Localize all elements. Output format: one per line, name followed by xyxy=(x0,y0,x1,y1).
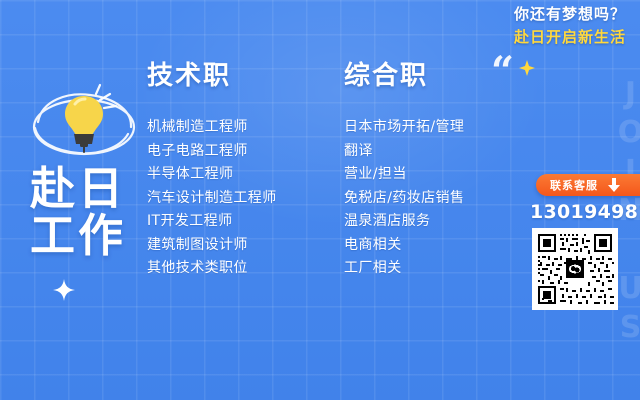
list-item: 建筑制图设计师 xyxy=(147,234,277,258)
star-yellow-icon xyxy=(519,60,535,76)
list-item: 汽车设计制造工程师 xyxy=(147,187,277,211)
lightbulb-icon xyxy=(28,82,140,164)
brand-title: 赴日 工作 xyxy=(30,166,126,260)
list-item: 机械制造工程师 xyxy=(147,116,277,140)
column-general-list: 日本市场开拓/管理 翻译 营业/担当 免税店/药妆店销售 温泉酒店服务 电商相关… xyxy=(344,116,464,281)
column-technical-title: 技术职 xyxy=(147,62,277,90)
list-item: 半导体工程师 xyxy=(147,163,277,187)
star-white-icon xyxy=(53,279,75,301)
brand-title-line1: 赴日 xyxy=(30,166,126,211)
poster-canvas: JOIN US 你还有梦想吗？ 赴日开启新生活 “ xyxy=(0,0,640,400)
column-technical: 技术职 机械制造工程师 电子电路工程师 半导体工程师 汽车设计制造工程师 IT开… xyxy=(147,62,277,281)
contact-support-label: 联系客服 xyxy=(550,177,598,193)
column-general: 综合职 日本市场开拓/管理 翻译 营业/担当 免税店/药妆店销售 温泉酒店服务 … xyxy=(344,62,464,281)
list-item: 免税店/药妆店销售 xyxy=(344,187,464,211)
headline-line2: 赴日开启新生活 xyxy=(514,27,626,47)
list-item: 营业/担当 xyxy=(344,163,464,187)
list-item: 电子电路工程师 xyxy=(147,140,277,164)
headline: 你还有梦想吗？ 赴日开启新生活 xyxy=(514,4,626,47)
column-technical-list: 机械制造工程师 电子电路工程师 半导体工程师 汽车设计制造工程师 IT开发工程师… xyxy=(147,116,277,281)
list-item: 温泉酒店服务 xyxy=(344,210,464,234)
phone-number[interactable]: 13019498186 xyxy=(530,201,640,223)
arrow-down-icon xyxy=(608,178,620,192)
contact-support-button[interactable]: 联系客服 xyxy=(536,174,640,196)
quote-mark-icon: “ xyxy=(491,52,514,92)
list-item: 电商相关 xyxy=(344,234,464,258)
list-item: 翻译 xyxy=(344,140,464,164)
list-item: 工厂相关 xyxy=(344,257,464,281)
list-item: 其他技术类职位 xyxy=(147,257,277,281)
column-general-title: 综合职 xyxy=(344,62,464,90)
headline-line1: 你还有梦想吗？ xyxy=(514,4,626,24)
list-item: 日本市场开拓/管理 xyxy=(344,116,464,140)
qr-code[interactable] xyxy=(532,228,618,310)
list-item: IT开发工程师 xyxy=(147,210,277,234)
brand-title-line2: 工作 xyxy=(30,213,126,258)
